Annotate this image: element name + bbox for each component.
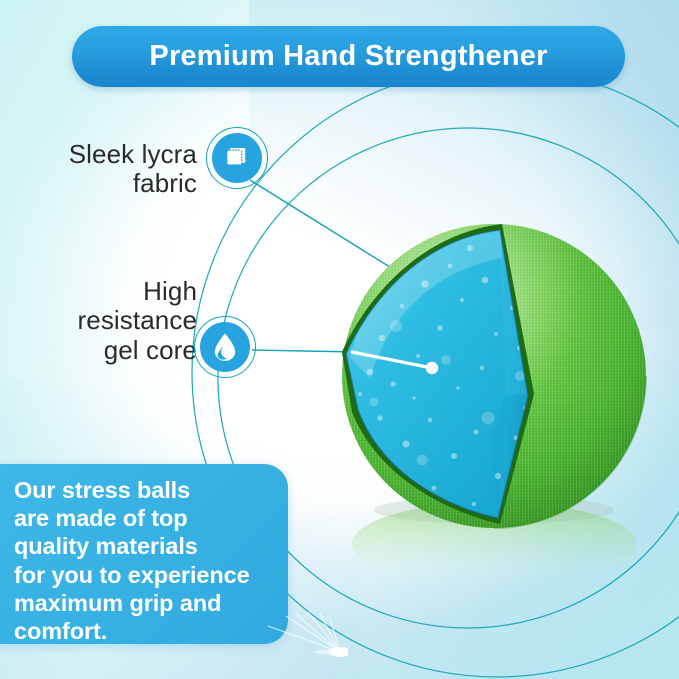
water-drop-icon — [210, 331, 240, 363]
page-title: Premium Hand Strengthener — [149, 40, 547, 73]
fabric-badge[interactable] — [212, 133, 262, 183]
fabric-swatch-icon — [222, 143, 252, 173]
product-infographic: Premium Hand Strengthener Sleek lycra fa… — [0, 0, 679, 679]
stress-ball-graphic — [330, 188, 660, 588]
callout-label-fabric: Sleek lycra fabric — [12, 140, 197, 199]
promo-box: Our stress balls are made of top quality… — [0, 464, 288, 644]
product-image — [330, 188, 660, 588]
callout-label-gel: High resistance gel core — [22, 277, 197, 365]
promo-text: Our stress balls are made of top quality… — [14, 476, 282, 645]
header-banner: Premium Hand Strengthener — [72, 26, 625, 87]
gel-badge[interactable] — [200, 322, 250, 372]
